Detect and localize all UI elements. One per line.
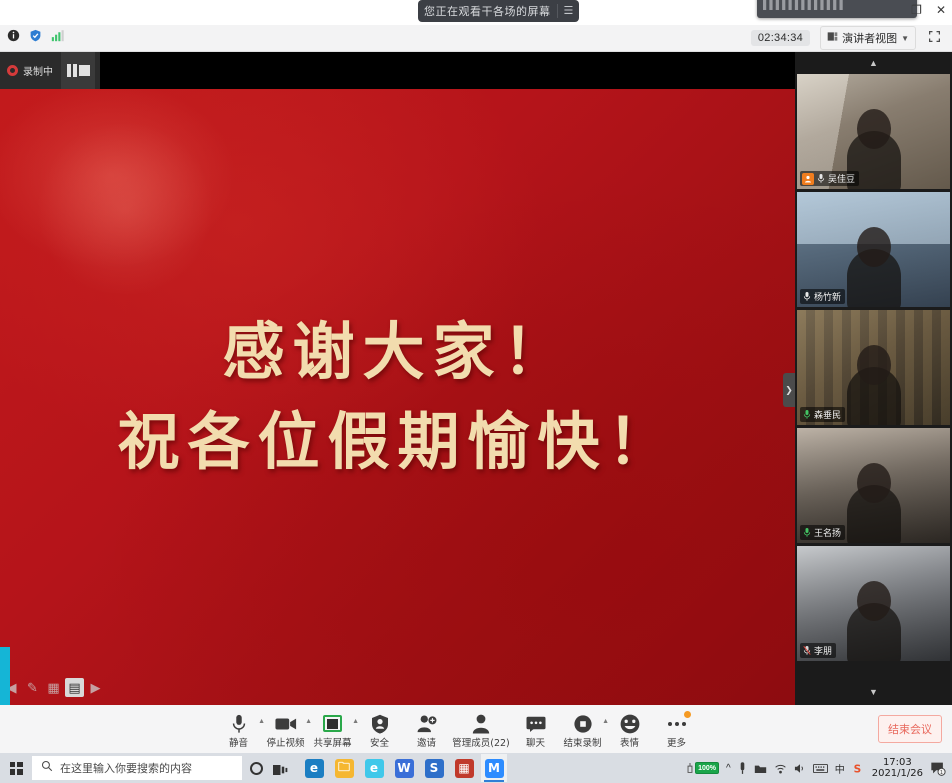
more-dots-icon [667,714,687,734]
participant-head [857,109,891,149]
participant-name: 王名扬 [814,526,841,539]
participant-nametag: 吴佳豆 [800,171,859,186]
meeting-toolbar: 静音▲停止视频▲共享屏幕▲安全邀请管理成员(22)聊天结束录制▲表情更多 结束会… [0,705,952,753]
participant-head [857,227,891,267]
taskbar-app-edge-browser[interactable]: e [301,754,327,782]
taskbar-app-blue-s-app[interactable]: S [421,754,447,782]
cortana-circle-icon[interactable] [250,762,263,775]
network-signal-icon[interactable] [51,29,64,47]
toolbar-button-label: 更多 [667,735,686,749]
chat-bubble-icon [526,714,546,734]
windows-start-icon[interactable] [0,753,32,783]
taskbar-app-file-explorer[interactable]: 🗀 [331,754,357,782]
close-icon[interactable]: ✕ [936,4,946,16]
participant-nametag: 王名扬 [800,525,845,540]
mic-muted-icon [802,645,812,657]
meeting-header-bar: 02:34:34 演讲者视图 ▼ [0,25,952,52]
wifi-icon[interactable] [774,763,787,774]
toolbar-button-manage-participants[interactable]: 管理成员(22) [450,710,512,749]
pen-tool-icon[interactable]: ✎ [23,678,42,697]
removable-drive-icon[interactable] [754,763,767,774]
mic-active-icon [802,527,812,539]
reaction-smiley-icon [620,714,640,734]
video-camera-icon [275,714,297,734]
fullscreen-icon[interactable] [926,30,943,46]
sogou-input-icon[interactable]: S [852,762,865,775]
floating-toolbar-label: ▌▌▌▌▌▌▌▌▌▌▌▌▌ [763,0,846,10]
taskbar-clock[interactable]: 17:03 2021/1/26 [872,757,923,780]
participant-tile[interactable]: 李朋 [797,546,950,661]
keyboard-icon[interactable] [813,763,828,774]
zoom-meeting-icon: M [485,759,504,778]
participant-head [857,463,891,503]
participant-name: 森垂民 [814,408,841,421]
toolbar-button-stop-record[interactable]: 结束录制▲ [559,710,606,749]
recording-label: 录制中 [23,63,53,78]
mic-icon [816,173,826,185]
chevron-down-icon[interactable]: ▼ [901,34,909,43]
notification-badge [684,711,691,718]
toolbar-button-video-camera[interactable]: 停止视频▲ [262,710,309,749]
toolbar-button-label: 静音 [229,735,248,749]
ime-chinese-icon[interactable]: 中 [835,761,845,776]
divider [557,4,558,18]
participant-name: 李朋 [814,644,832,657]
battery-level: 100% [698,765,716,772]
participant-nametag: 李朋 [800,643,836,658]
notification-icon[interactable]: 1 [930,760,946,776]
colorful-app-icon: ▦ [455,759,474,778]
toolbar-button-label: 共享屏幕 [313,735,351,749]
window-controls[interactable]: ❐ ✕ [911,4,946,16]
toolbar-button-more-dots[interactable]: 更多 [653,710,700,749]
participant-tiles: 吴佳豆杨竹新森垂民王名扬李朋 [797,74,950,664]
cyan-app-icon: e [365,759,384,778]
restore-icon[interactable]: ❐ [911,4,922,16]
svg-text:S: S [853,763,861,774]
taskbar-app-zoom-meeting[interactable]: M [481,754,507,782]
desktop-top-strip: 您正在观看干各场的屏幕 ☰ ▌▌▌▌▌▌▌▌▌▌▌▌▌ ❐ ✕ [0,0,952,25]
wps-writer-icon: W [395,759,414,778]
taskbar-app-colorful-app[interactable]: ▦ [451,754,477,782]
floating-meeting-toolbar[interactable]: ▌▌▌▌▌▌▌▌▌▌▌▌▌ [757,0,917,18]
toolbar-button-label: 聊天 [526,735,545,749]
participant-head [857,345,891,385]
participant-tile[interactable]: 王名扬 [797,428,950,543]
toolbar-button-label: 安全 [370,735,389,749]
usb-device-icon[interactable] [738,762,747,775]
stop-record-icon [574,714,592,734]
meeting-timer: 02:34:34 [751,30,810,46]
invite-person-icon [417,714,437,734]
share-screen-icon [323,714,342,734]
clock-time: 17:03 [883,757,912,769]
mic-icon [802,291,812,303]
search-placeholder-text: 在这里输入你要搜索的内容 [60,760,192,776]
toolbar-button-security-shield[interactable]: 安全 [356,710,403,749]
view-mode-selector[interactable]: 演讲者视图 ▼ [820,26,916,50]
participant-nametag: 杨竹新 [800,289,845,304]
svg-text:1: 1 [940,770,943,776]
mic-active-icon [802,409,812,421]
participant-name: 吴佳豆 [828,172,855,185]
slide-line-2: 祝各位假期愉快！ [117,397,677,487]
blue-s-app-icon: S [425,759,444,778]
volume-icon[interactable] [794,763,806,774]
participant-name: 杨竹新 [814,290,841,303]
presentation-slide: 感谢大家！ 祝各位假期愉快！ [0,89,795,705]
chevron-up-icon[interactable]: ^ [726,763,731,774]
windows-taskbar: 在这里输入你要搜索的内容 e🗀eWS▦M 100% ^ [0,753,952,783]
participant-tile[interactable]: 森垂民 [797,310,950,425]
shield-icon[interactable] [29,29,42,47]
end-meeting-button[interactable]: 结束会议 [878,715,942,743]
taskbar-app-wps-writer[interactable]: W [391,754,417,782]
edge-browser-icon: e [305,759,324,778]
toolbar-button-label: 表情 [620,735,639,749]
toolbar-button-label: 邀请 [417,735,436,749]
toolbar-button-label: 管理成员(22) [452,735,510,749]
recording-control-bar: 录制中 [0,52,100,89]
toolbar-button-label: 停止视频 [266,735,304,749]
slide-line-1: 感谢大家！ [222,307,572,397]
participant-tile[interactable]: 吴佳豆 [797,74,950,189]
participant-head [857,581,891,621]
scroll-up-arrow[interactable]: ▲ [795,52,952,74]
shared-screen-area: 录制中 感谢大家！ 祝各位假期愉快！ ◀ ✎ ▦ ▤ ▶ [0,52,795,705]
toolbar-button-invite-person[interactable]: 邀请 [403,710,450,749]
speaker-view-icon [827,29,838,47]
host-badge-icon [802,173,814,185]
file-explorer-icon: 🗀 [335,759,354,778]
collapse-panel-handle[interactable]: ❯ [783,373,795,407]
screen-share-tip-text: 您正在观看干各场的屏幕 [424,3,551,19]
microphone-icon [229,714,249,734]
search-input[interactable]: 在这里输入你要搜索的内容 [32,756,242,780]
taskbar-app-cyan-app[interactable]: e [361,754,387,782]
search-icon [41,759,53,777]
info-icon[interactable] [7,29,20,47]
screen-root: 您正在观看干各场的屏幕 ☰ ▌▌▌▌▌▌▌▌▌▌▌▌▌ ❐ ✕ [0,0,952,783]
scroll-down-arrow[interactable]: ▼ [795,681,952,703]
pause-icon[interactable] [66,64,77,77]
task-view-icon[interactable] [273,763,287,774]
toolbar-button-share-screen[interactable]: 共享屏幕▲ [309,710,356,749]
battery-icon[interactable]: 100% [686,762,719,774]
hamburger-icon[interactable]: ☰ [564,6,574,17]
powerpoint-presenter-controls[interactable]: ◀ ✎ ▦ ▤ ▶ [2,678,105,697]
toolbar-button-label: 结束录制 [563,735,601,749]
taskbar-apps: e🗀eWS▦M [301,754,507,782]
clock-date: 2021/1/26 [872,768,923,780]
participants-video-strip: ▲ 吴佳豆杨竹新森垂民王名扬李朋 ▼ [795,52,952,705]
toolbar-button-chat-bubble[interactable]: 聊天 [512,710,559,749]
manage-participants-icon [472,714,490,734]
slide-show-icon[interactable]: ▦ [44,678,63,697]
security-shield-icon [371,714,389,734]
system-tray: 100% ^ 中 S 17:03 2021 [686,757,952,780]
stop-icon[interactable] [79,65,90,76]
share-screen-glyph [323,715,342,732]
notes-icon[interactable]: ▤ [65,678,84,697]
record-dot-icon [7,65,18,76]
toolbar-button-reaction-smiley[interactable]: 表情 [606,710,653,749]
view-mode-label: 演讲者视图 [842,30,897,46]
left-edge-indicator [0,647,10,705]
participant-nametag: 森垂民 [800,407,845,422]
screen-share-tip-bar[interactable]: 您正在观看干各场的屏幕 ☰ [418,0,579,22]
next-slide-arrow[interactable]: ▶ [86,678,105,697]
participant-tile[interactable]: 杨竹新 [797,192,950,307]
toolbar-button-microphone[interactable]: 静音▲ [215,710,262,749]
